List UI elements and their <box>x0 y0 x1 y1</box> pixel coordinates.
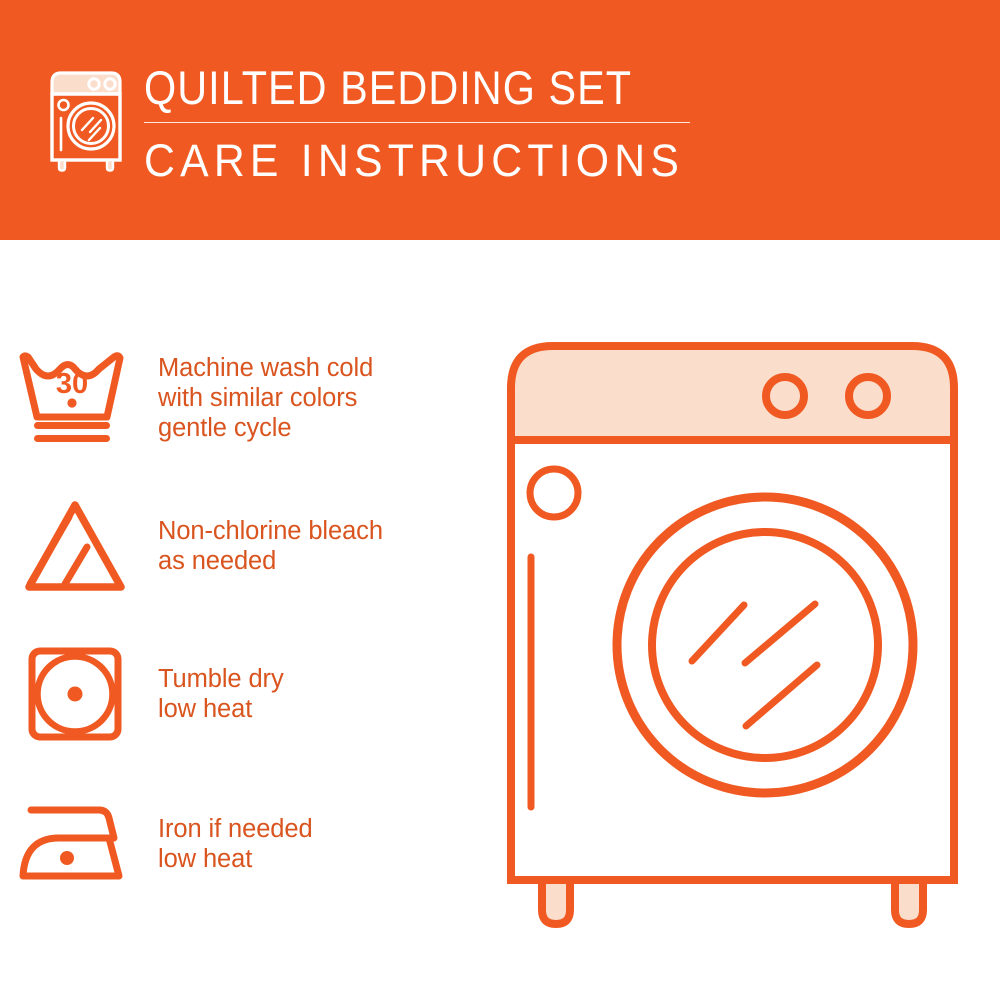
non-chlorine-bleach-triangle-icon <box>0 490 150 602</box>
wash-tub-30-gentle-icon: 30 <box>0 342 150 454</box>
care-label-line: gentle cycle <box>158 413 373 443</box>
title-divider <box>144 122 690 123</box>
page-title: QUILTED BEDDING SET <box>144 62 672 114</box>
machine-leg <box>542 880 570 924</box>
care-instruction-label: Machine wash cold with similar colors ge… <box>150 353 373 443</box>
care-instruction-label: Iron if needed low heat <box>150 814 313 874</box>
washing-machine-icon <box>44 68 136 172</box>
header-banner: QUILTED BEDDING SET CARE INSTRUCTIONS <box>0 0 1000 240</box>
care-instruction-row: Iron if needed low heat <box>0 788 490 900</box>
machine-leg <box>895 880 923 924</box>
page-subtitle: CARE INSTRUCTIONS <box>144 136 714 186</box>
care-label-line: low heat <box>158 844 313 874</box>
care-label-line: Tumble dry <box>158 664 284 694</box>
care-instruction-label: Non-chlorine bleach as needed <box>150 516 383 576</box>
care-label-line: as needed <box>158 546 383 576</box>
wash-temp-value: 30 <box>56 368 88 400</box>
care-instructions-page: QUILTED BEDDING SET CARE INSTRUCTIONS 30 <box>0 0 1000 1000</box>
care-instruction-row: Non-chlorine bleach as needed <box>0 490 490 602</box>
iron-low-heat-icon <box>0 788 150 900</box>
care-label-line: with similar colors <box>158 383 373 413</box>
care-instruction-row: Tumble dry low heat <box>0 638 490 750</box>
care-label-line: low heat <box>158 694 284 724</box>
tumble-dry-low-heat-icon <box>0 638 150 750</box>
care-instruction-row: 30 Machine wash cold with similar colors… <box>0 342 490 454</box>
header-text-block: QUILTED BEDDING SET CARE INSTRUCTIONS <box>144 62 744 186</box>
care-label-line: Non-chlorine bleach <box>158 516 383 546</box>
care-instruction-label: Tumble dry low heat <box>150 664 284 724</box>
washing-machine-illustration <box>495 330 970 930</box>
care-label-line: Machine wash cold <box>158 353 373 383</box>
care-instruction-list: 30 Machine wash cold with similar colors… <box>0 240 490 1000</box>
care-label-line: Iron if needed <box>158 814 313 844</box>
